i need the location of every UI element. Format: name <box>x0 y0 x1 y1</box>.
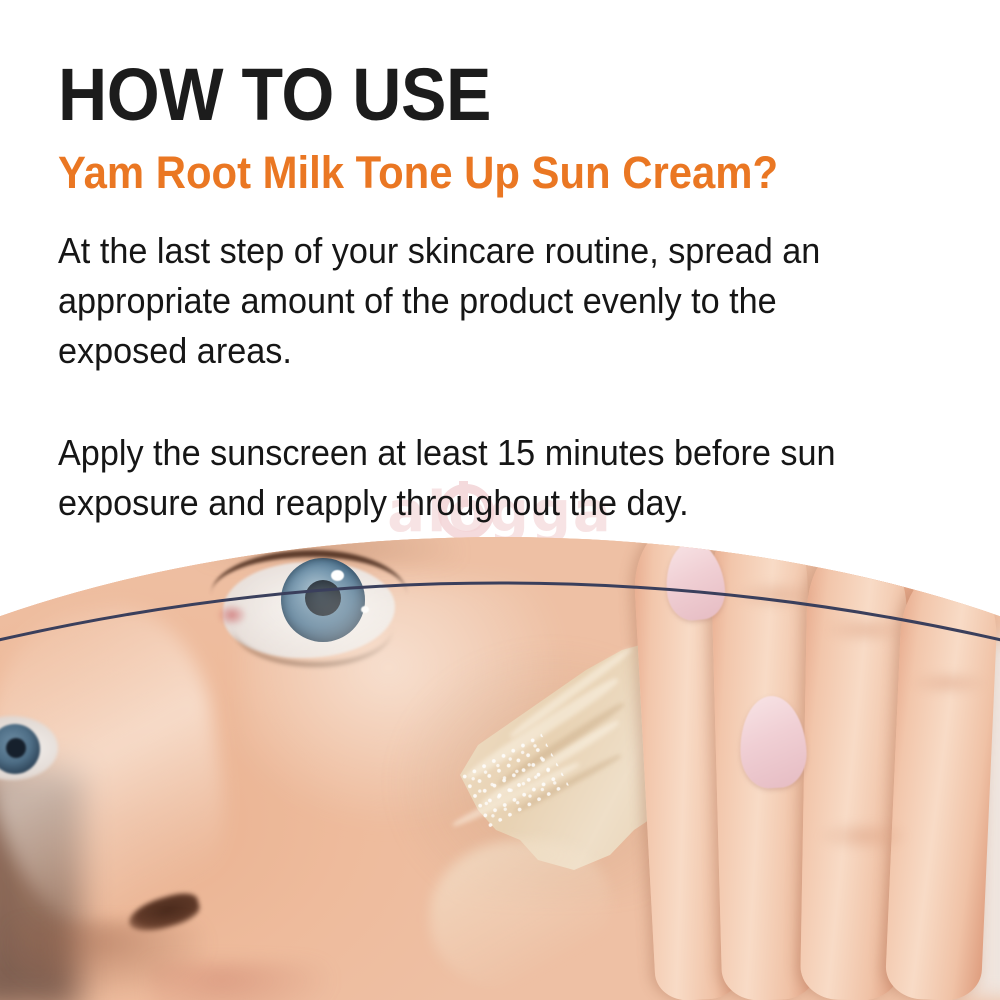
instruction-paragraph-1: At the last step of your skincare routin… <box>58 226 913 376</box>
photo-arc-clip <box>0 520 1000 1000</box>
how-to-use-infographic: HOW TO USE Yam Root Milk Tone Up Sun Cre… <box>0 0 1000 1000</box>
instruction-paragraph-2: Apply the sunscreen at least 15 minutes … <box>58 428 913 528</box>
page-title: HOW TO USE <box>58 58 886 132</box>
knuckle-shading <box>736 580 816 610</box>
product-subtitle: Yam Root Milk Tone Up Sun Cream? <box>58 148 895 198</box>
partial-eye-left <box>0 716 58 780</box>
upper-lip-hint <box>150 962 330 1000</box>
hand-with-fingers <box>640 520 1000 1000</box>
knuckle-shading <box>826 616 906 644</box>
knuckle-shading <box>818 820 908 852</box>
text-content-block: HOW TO USE Yam Root Milk Tone Up Sun Cre… <box>58 58 958 528</box>
knuckle-shading <box>912 670 986 696</box>
product-photo-panel <box>0 520 1000 1000</box>
photo-image <box>0 520 1000 1000</box>
pupil <box>6 738 26 758</box>
